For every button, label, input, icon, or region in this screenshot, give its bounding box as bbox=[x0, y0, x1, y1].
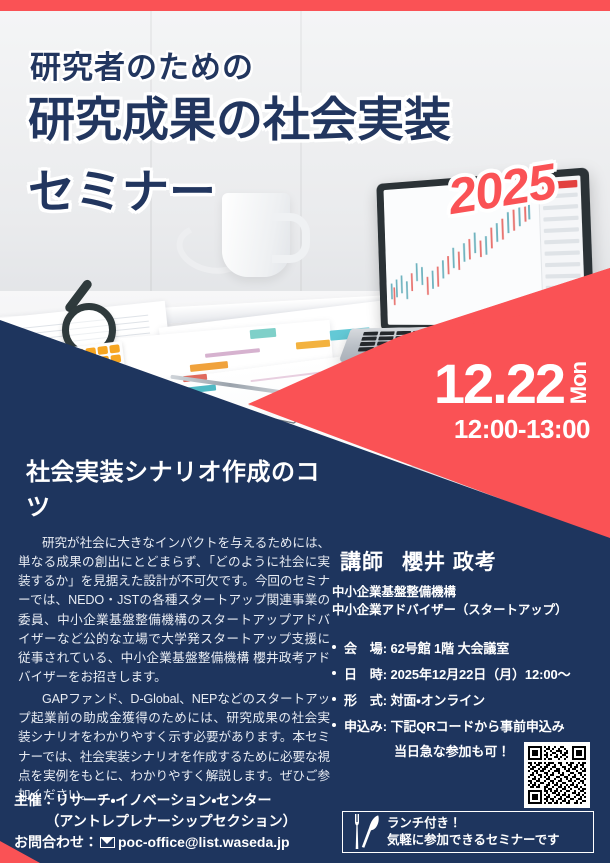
detail-venue-value: 62号館 1階 大会議室 bbox=[390, 641, 509, 656]
date-day: 12.22 bbox=[434, 358, 564, 410]
speaker-affiliation: 中小企業基盤整備機構 中小企業アドバイザー（スタートアップ） bbox=[332, 584, 602, 620]
detail-datetime-label: 日 時: bbox=[344, 667, 387, 682]
photo-pill-pack bbox=[70, 341, 126, 381]
date-time: 12:00-13:00 bbox=[330, 414, 590, 445]
seminar-poster: 研究者のための 研究成果の社会実装 セミナー 2025 12.22 Mon 12… bbox=[0, 0, 610, 863]
headline-subtitle: 研究者のための bbox=[30, 42, 254, 87]
footer-organizer-block: 主催：リサーチ・イノベーション・センター （アントレプレナーシップセクション） … bbox=[14, 790, 334, 852]
footer-contact-email[interactable]: poc-office@list.waseda.jp bbox=[118, 834, 290, 850]
body-left-column: 社会実装シナリオ作成のコツ 研究が社会に大きなインパクトを与えるためには、単なる… bbox=[18, 452, 330, 808]
footer-contact: お問合わせ： poc-office@list.waseda.jp bbox=[14, 832, 334, 852]
detail-application-value: 下記QRコードから事前申込み bbox=[390, 719, 564, 734]
footer-organizer-sub: （アントレプレナーシップセクション） bbox=[14, 811, 334, 831]
lunch-banner-line2: 気軽に参加できるセミナーです bbox=[387, 832, 559, 849]
lunch-banner-line1: ランチ付き！ bbox=[387, 815, 559, 832]
top-red-bar bbox=[0, 0, 610, 11]
detail-format-label: 形 式: bbox=[344, 693, 387, 708]
speaker-affiliation-line2: 中小企業アドバイザー（スタートアップ） bbox=[332, 602, 602, 620]
speaker-affiliation-line1: 中小企業基盤整備機構 bbox=[332, 584, 602, 602]
lunch-banner: ランチ付き！ 気軽に参加できるセミナーです bbox=[342, 811, 594, 853]
detail-venue-label: 会 場: bbox=[344, 641, 387, 656]
qr-code[interactable] bbox=[524, 742, 590, 808]
detail-format: 形 式: 対面・オンライン bbox=[330, 690, 602, 709]
date-weekday: Mon bbox=[568, 362, 590, 404]
date-block: 12.22 Mon 12:00-13:00 bbox=[330, 358, 590, 445]
footer-organizer: 主催：リサーチ・イノベーション・センター bbox=[14, 790, 334, 810]
headline-main-line1: 研究成果の社会実装 bbox=[28, 96, 451, 143]
section-paragraph-2: GAPファンド、D-Global、NEPなどのスタートアップ起業前の助成金獲得の… bbox=[18, 690, 330, 805]
body-right-column: 講師櫻井 政考 中小企業基盤整備機構 中小企業アドバイザー（スタートアップ） 会… bbox=[330, 546, 602, 767]
section-paragraph-1: 研究が社会に大きなインパクトを与えるためには、単なる成果の創出にとどまらず、「ど… bbox=[18, 534, 330, 687]
section-title: 社会実装シナリオ作成のコツ bbox=[26, 452, 330, 522]
headline-main-line2: セミナー bbox=[28, 168, 216, 215]
fork-knife-icon bbox=[343, 812, 387, 852]
detail-venue: 会 場: 62号館 1階 大会議室 bbox=[330, 638, 602, 657]
speaker-label: 講師 bbox=[340, 551, 384, 574]
detail-application-label: 申込み: bbox=[344, 719, 387, 734]
detail-datetime-value: 2025年12月22日（月）12:00〜 bbox=[390, 667, 570, 682]
speaker-name: 櫻井 政考 bbox=[402, 551, 497, 574]
lunch-banner-text: ランチ付き！ 気軽に参加できるセミナーです bbox=[387, 815, 559, 848]
speaker-heading: 講師櫻井 政考 bbox=[340, 546, 602, 576]
detail-datetime: 日 時: 2025年12月22日（月）12:00〜 bbox=[330, 664, 602, 683]
detail-format-value: 対面・オンライン bbox=[390, 693, 485, 708]
photo-mug bbox=[222, 193, 290, 277]
mail-icon bbox=[100, 837, 115, 848]
bottom-left-red-corner bbox=[0, 837, 40, 863]
